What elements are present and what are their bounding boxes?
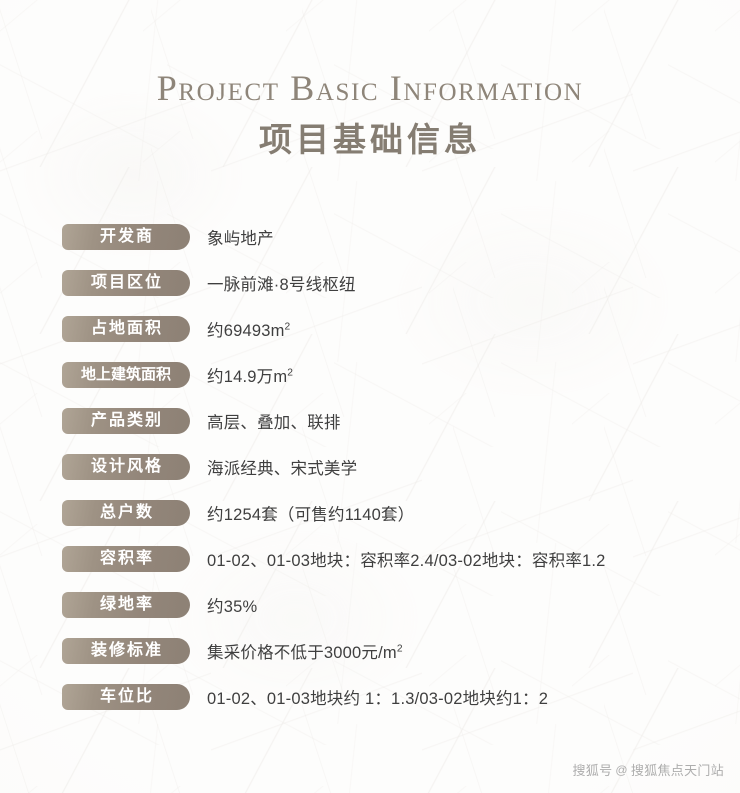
spec-value-text: 01-02、01-03地块约 1：1.3/03-02地块约1：2 (207, 690, 548, 708)
spec-value-superscript: 2 (285, 321, 291, 332)
spec-label-pill: 容积率 (62, 546, 190, 572)
spec-label-pill: 开发商 (62, 224, 190, 250)
spec-value: 海派经典、宋式美学 (207, 455, 740, 479)
watermark-account: 搜狐焦点天门站 (631, 760, 724, 779)
spec-label-pill: 装修标准 (62, 638, 190, 664)
watermark-at-symbol: @ (615, 763, 627, 777)
spec-value-superscript: 2 (397, 643, 403, 654)
spec-value-text: 约69493m (207, 322, 285, 340)
spec-value: 一脉前滩·8号线枢纽 (207, 271, 740, 295)
spec-value-text: 象屿地产 (207, 230, 274, 248)
specification-list: 开发商象屿地产项目区位一脉前滩·8号线枢纽占地面积约69493m2地上建筑面积约… (0, 214, 740, 720)
spec-row: 装修标准集采价格不低于3000元/m2 (0, 628, 740, 674)
spec-row: 开发商象屿地产 (0, 214, 740, 260)
spec-value-text: 约1254套（可售约1140套） (207, 506, 414, 524)
spec-row: 产品类别高层、叠加、联排 (0, 398, 740, 444)
spec-label-pill: 设计风格 (62, 454, 190, 480)
page-title-chinese: 项目基础信息 (0, 122, 740, 162)
spec-value: 象屿地产 (207, 225, 740, 249)
spec-row: 车位比01-02、01-03地块约 1：1.3/03-02地块约1：2 (0, 674, 740, 720)
spec-row: 项目区位一脉前滩·8号线枢纽 (0, 260, 740, 306)
spec-label-pill: 地上建筑面积 (62, 362, 190, 388)
spec-value: 高层、叠加、联排 (207, 409, 740, 433)
spec-row: 地上建筑面积约14.9万m2 (0, 352, 740, 398)
spec-value: 集采价格不低于3000元/m2 (207, 639, 740, 663)
spec-value-text: 约35% (207, 598, 257, 616)
watermark-prefix: 搜狐号 (573, 760, 613, 779)
spec-value: 约69493m2 (207, 317, 740, 341)
spec-value-text: 高层、叠加、联排 (207, 414, 341, 432)
spec-label-pill: 车位比 (62, 684, 190, 710)
spec-label-pill: 项目区位 (62, 270, 190, 296)
spec-value-text: 海派经典、宋式美学 (207, 460, 357, 478)
spec-value: 约1254套（可售约1140套） (207, 501, 740, 525)
spec-label-pill: 绿地率 (62, 592, 190, 618)
spec-value-text: 集采价格不低于3000元/m (207, 644, 397, 662)
spec-value-text: 一脉前滩·8号线枢纽 (207, 276, 356, 294)
spec-row: 容积率01-02、01-03地块：容积率2.4/03-02地块：容积率1.2 (0, 536, 740, 582)
spec-label-pill: 占地面积 (62, 316, 190, 342)
spec-value-superscript: 2 (287, 367, 293, 378)
project-info-page: Project Basic Information 项目基础信息 开发商象屿地产… (0, 0, 740, 793)
spec-row: 绿地率约35% (0, 582, 740, 628)
spec-row: 占地面积约69493m2 (0, 306, 740, 352)
spec-value: 约35% (207, 593, 740, 617)
spec-value: 01-02、01-03地块约 1：1.3/03-02地块约1：2 (207, 685, 740, 709)
spec-label-pill: 产品类别 (62, 408, 190, 434)
spec-label-pill: 总户数 (62, 500, 190, 526)
page-header: Project Basic Information 项目基础信息 (0, 0, 740, 162)
spec-row: 总户数约1254套（可售约1140套） (0, 490, 740, 536)
page-title-english: Project Basic Information (0, 68, 740, 108)
watermark: 搜狐号 @ 搜狐焦点天门站 (573, 760, 725, 779)
spec-value-text: 01-02、01-03地块：容积率2.4/03-02地块：容积率1.2 (207, 552, 606, 570)
spec-value-text: 约14.9万m (207, 368, 287, 386)
spec-value: 01-02、01-03地块：容积率2.4/03-02地块：容积率1.2 (207, 547, 740, 571)
spec-row: 设计风格海派经典、宋式美学 (0, 444, 740, 490)
spec-value: 约14.9万m2 (207, 363, 740, 387)
